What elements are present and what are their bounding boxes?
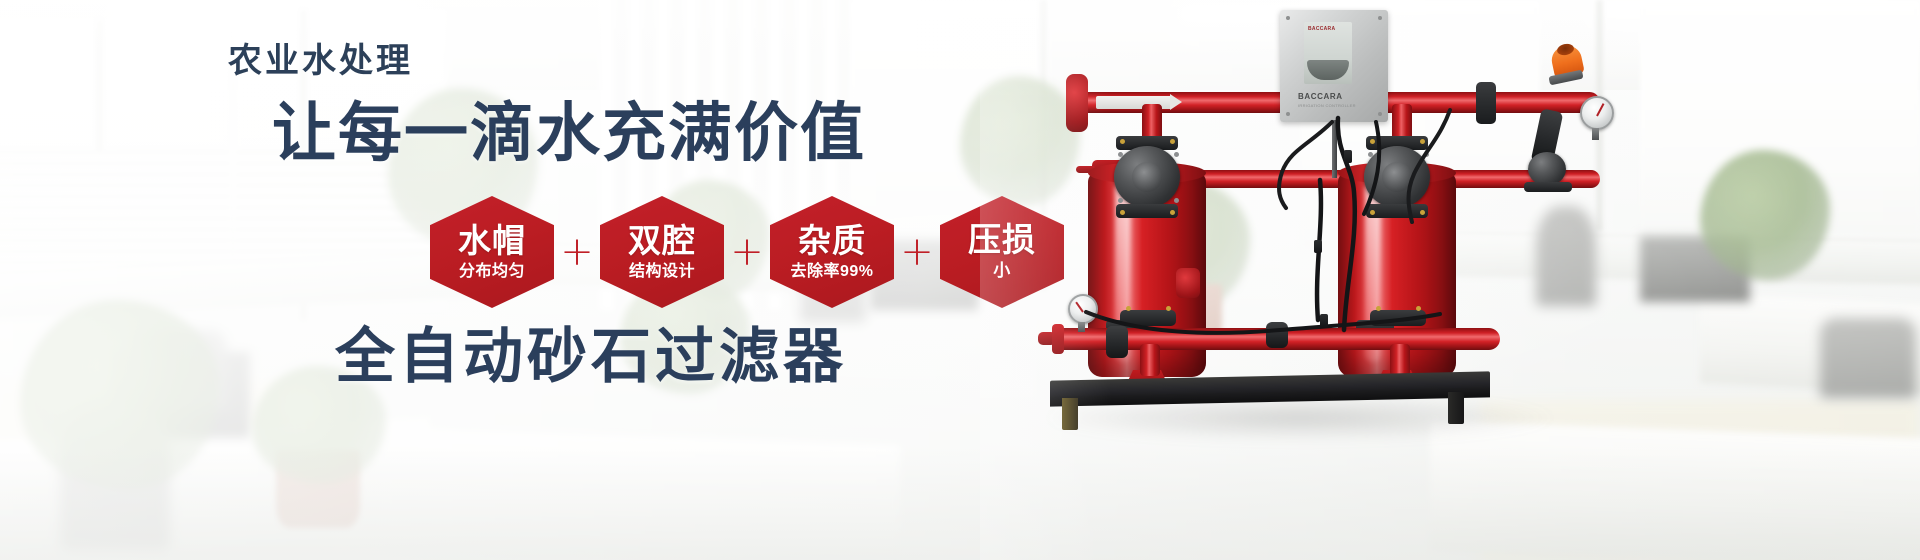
feature-hex-shuimao[interactable]: 水帽 分布均匀 bbox=[430, 196, 554, 308]
valve-1-bolt-g bbox=[1120, 210, 1125, 215]
feature-hex-zazhi[interactable]: 杂质 去除率99% bbox=[770, 196, 894, 308]
filter-tank-1-sideport bbox=[1176, 268, 1200, 298]
right-drain-valve-collar bbox=[1524, 182, 1572, 192]
page-title: 让每一滴水充满价值 bbox=[272, 100, 866, 167]
skid-leg-left bbox=[1062, 398, 1078, 430]
pipe-inlet-flange bbox=[1066, 74, 1088, 132]
feature-subtitle: 分布均匀 bbox=[459, 263, 525, 281]
valve-1-bolt-e bbox=[1118, 198, 1123, 203]
eyebrow-label: 农业水处理 bbox=[228, 44, 413, 78]
feature-title: 双腔 bbox=[628, 224, 696, 259]
valve-1-cap bbox=[1132, 162, 1162, 192]
valve-1-bolt-h bbox=[1170, 210, 1175, 215]
plus-separator-2: + bbox=[724, 232, 770, 272]
feature-title: 水帽 bbox=[458, 224, 526, 259]
pressure-gauge-top-stem bbox=[1592, 128, 1599, 140]
right-drain-valve-knob bbox=[1528, 152, 1566, 186]
feature-subtitle: 结构设计 bbox=[629, 263, 695, 281]
controller-screw-tl bbox=[1286, 16, 1290, 20]
product-sand-filter: BACCARA BACCARA IRRIGATION CONTROLLER bbox=[980, 0, 1920, 560]
plus-separator-3: + bbox=[894, 232, 940, 272]
product-name: 全自动砂石过滤器 bbox=[335, 325, 847, 388]
pipe-bottom-endcap bbox=[1052, 324, 1064, 354]
controller-brand-top-label: BACCARA bbox=[1308, 26, 1335, 32]
cable-to-tank-2 bbox=[1354, 104, 1504, 234]
feature-hexagon-row: 水帽 分布均匀 + 双腔 结构设计 + 杂质 去除率99% + 压损 小 bbox=[430, 196, 1064, 308]
skid-leg-right bbox=[1448, 392, 1464, 424]
feature-subtitle: 去除率99% bbox=[790, 263, 873, 281]
feature-title: 杂质 bbox=[798, 224, 866, 259]
cable-tie-2 bbox=[1320, 314, 1328, 327]
valve-1-bolt-c bbox=[1118, 152, 1123, 157]
cable-tie-1 bbox=[1314, 240, 1322, 253]
cable-tie-3 bbox=[1344, 150, 1352, 163]
valve-1-lower-collar bbox=[1116, 204, 1178, 218]
valve-1-bolt-a bbox=[1120, 139, 1125, 144]
promo-banner: 农业水处理 让每一滴水充满价值 全自动砂石过滤器 水帽 分布均匀 + 双腔 结构… bbox=[0, 0, 1920, 560]
feature-hex-shuangqiang[interactable]: 双腔 结构设计 bbox=[600, 196, 724, 308]
controller-screw-tr bbox=[1378, 16, 1382, 20]
plus-separator-1: + bbox=[554, 232, 600, 272]
